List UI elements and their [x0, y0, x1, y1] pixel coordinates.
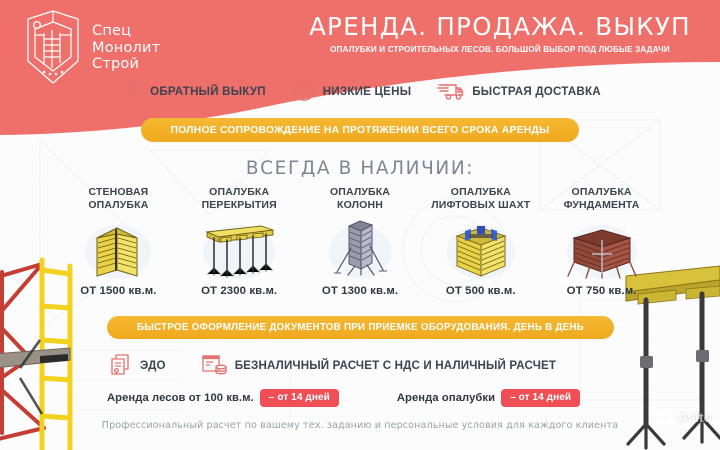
- foundation-formwork-art: [560, 212, 644, 280]
- term-scaffolding: Аренда лесов от 100 кв.м. – от 14 дней: [107, 389, 339, 407]
- edo-documents-icon: [107, 352, 133, 378]
- documents-banner: БЫСТРОЕ ОФОРМЛЕНИЕ ДОКУМЕНТОВ ПРИ ПРИЕМК…: [107, 316, 614, 339]
- footer-note: Профессиональный расчет по вашему тех. з…: [0, 420, 720, 431]
- payments-row: ЭДО БЕЗНАЛИЧНЫЙ РАСЧЕТ С НДС И НАЛИЧНЫЙ …: [107, 352, 617, 378]
- delivery-truck-icon: [437, 79, 465, 103]
- brand-name-line1: Спец: [92, 23, 160, 40]
- term-formwork: Аренда опалубки – от 14 дней: [397, 389, 580, 407]
- product-price: ОТ 1500 кв.м.: [80, 285, 156, 297]
- product-name: ОПАЛУБКА ЛИФТОВЫХ ШАХТ: [431, 186, 530, 212]
- feature-low-prices-label: НИЗКИЕ ЦЕНЫ: [323, 85, 411, 98]
- low-price-tag-icon: [292, 79, 316, 103]
- product-liftshaft-formwork: ОПАЛУБКА ЛИФТОВЫХ ШАХТ: [420, 186, 541, 297]
- term-scaffolding-label: Аренда лесов от 100 кв.м.: [107, 392, 254, 404]
- brand-name-line3: Строй: [92, 56, 160, 73]
- payment-methods: БЕЗНАЛИЧНЫЙ РАСЧЕТ С НДС И НАЛИЧНЫЙ РАСЧ…: [200, 352, 556, 378]
- advertisement-banner: Спец Монолит Строй АРЕНДА. ПРОДАЖА. ВЫКУ…: [0, 0, 720, 450]
- avito-dots-icon: [658, 409, 675, 426]
- product-price: ОТ 2300 кв.м.: [201, 285, 277, 297]
- section-title: ВСЕГДА В НАЛИЧИИ:: [0, 158, 720, 179]
- product-price: ОТ 500 кв.м.: [446, 285, 516, 297]
- page-title: АРЕНДА. ПРОДАЖА. ВЫКУП: [290, 12, 710, 41]
- product-name: ОПАЛУБКА ПЕРЕКРЫТИЯ: [202, 186, 277, 212]
- avito-watermark-text: Avito: [678, 410, 712, 425]
- payment-edo-label: ЭДО: [140, 359, 166, 372]
- feature-low-prices: НИЗКИЕ ЦЕНЫ: [292, 79, 411, 103]
- brand-logo: Спец Монолит Строй: [22, 9, 160, 87]
- brand-name-line2: Монолит: [92, 40, 160, 57]
- features-row: ОБРАТНЫЙ ВЫКУП НИЗКИЕ ЦЕНЫ: [0, 79, 720, 103]
- brand-name: Спец Монолит Строй: [92, 23, 160, 73]
- product-name: ОПАЛУБКА ФУНДАМЕНТА: [564, 186, 640, 212]
- terms-row: Аренда лесов от 100 кв.м. – от 14 дней А…: [107, 389, 619, 407]
- term-formwork-badge: – от 14 дней: [501, 389, 580, 407]
- product-price: ОТ 1300 кв.м.: [322, 285, 398, 297]
- slab-formwork-art: [197, 212, 281, 280]
- product-name: СТЕНОВАЯ ОПАЛУБКА: [88, 186, 148, 212]
- avito-watermark: Avito: [658, 409, 712, 426]
- wall-formwork-art: [81, 212, 155, 280]
- products-row: СТЕНОВАЯ ОПАЛУБКА ОТ: [58, 186, 662, 297]
- term-formwork-label: Аренда опалубки: [397, 392, 495, 404]
- product-slab-formwork: ОПАЛУБКА ПЕРЕКРЫТИЯ: [179, 186, 300, 297]
- feature-buyback: ОБРАТНЫЙ ВЫКУП: [119, 79, 266, 103]
- product-wall-formwork: СТЕНОВАЯ ОПАЛУБКА ОТ: [58, 186, 179, 297]
- support-banner: ПОЛНОЕ СОПРОВОЖДЕНИЕ НА ПРОТЯЖЕНИИ ВСЕГО…: [141, 118, 579, 142]
- invoice-cash-icon: [200, 352, 228, 378]
- payment-edo: ЭДО: [107, 352, 166, 378]
- payment-methods-label: БЕЗНАЛИЧНЫЙ РАСЧЕТ С НДС И НАЛИЧНЫЙ РАСЧ…: [235, 359, 556, 372]
- column-formwork-art: [324, 212, 396, 280]
- term-scaffolding-badge: – от 14 дней: [260, 389, 339, 407]
- building-emblem-icon: [22, 9, 84, 87]
- product-price: ОТ 750 кв.м.: [567, 285, 637, 297]
- product-column-formwork: ОПАЛУБКА КОЛОНН: [300, 186, 421, 297]
- feature-buyback-label: ОБРАТНЫЙ ВЫКУП: [150, 85, 266, 98]
- feature-fast-delivery: БЫСТРАЯ ДОСТАВКА: [437, 79, 601, 103]
- feature-fast-delivery-label: БЫСТРАЯ ДОСТАВКА: [472, 85, 601, 98]
- headline-block: АРЕНДА. ПРОДАЖА. ВЫКУП ОПАЛУБКИ И СТРОИТ…: [290, 12, 710, 54]
- page-subtitle: ОПАЛУБКИ И СТРОИТЕЛЬНЫХ ЛЕСОВ. БОЛЬШОЙ В…: [290, 45, 710, 54]
- product-foundation-formwork: ОПАЛУБКА ФУНДАМЕНТА: [541, 186, 662, 297]
- product-name: ОПАЛУБКА КОЛОНН: [330, 186, 390, 212]
- liftshaft-formwork-art: [441, 212, 521, 280]
- buyback-arrows-dollar-icon: [119, 79, 143, 103]
